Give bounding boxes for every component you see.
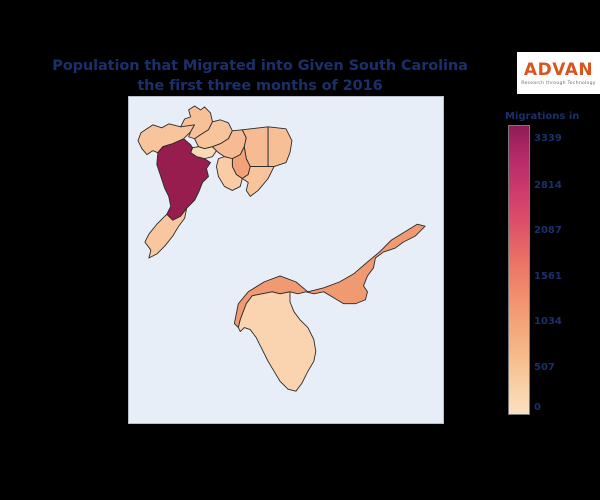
colorbar[interactable]: [508, 125, 530, 415]
colorbar-tick-3: 1561: [534, 271, 562, 282]
choropleth-map-svg: [129, 97, 443, 423]
colorbar-tick-0: 3339: [534, 133, 562, 144]
logo-tagline: Research through Technology: [521, 81, 596, 86]
colorbar-tick-6: 0: [534, 402, 541, 413]
page-title-line-2: the first three months of 2016: [0, 76, 520, 96]
colorbar-tick-1: 2814: [534, 180, 562, 191]
advan-logo: ADVAN Research through Technology: [517, 52, 600, 94]
colorbar-tick-5: 507: [534, 362, 555, 373]
colorbar-title: Migrations in: [505, 111, 579, 122]
choropleth-map-panel: [128, 96, 444, 424]
page-title-line-1: Population that Migrated into Given Sout…: [0, 56, 520, 76]
map-region-r8[interactable]: [268, 127, 292, 167]
map-region-r14[interactable]: [238, 292, 316, 391]
colorbar-tick-4: 1034: [534, 316, 562, 327]
colorbar-gradient: [508, 125, 530, 415]
logo-wordmark: ADVAN: [524, 61, 593, 79]
page-title: Population that Migrated into Given Sout…: [0, 56, 520, 96]
colorbar-tick-2: 2087: [534, 225, 562, 236]
